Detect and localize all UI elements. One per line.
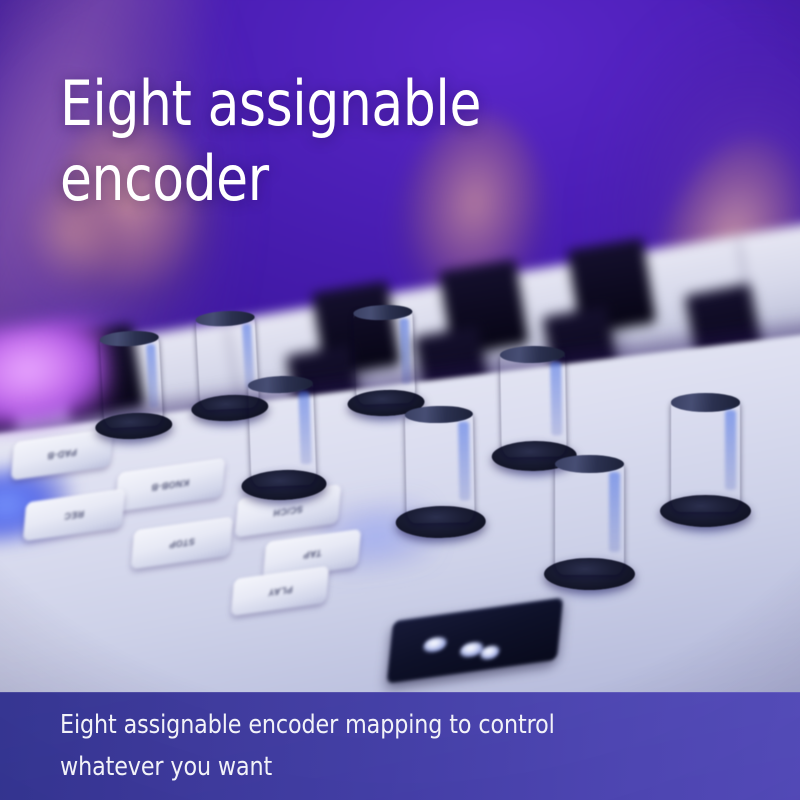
caption-line-1: Eight assignable encoder mapping to cont… bbox=[60, 704, 725, 746]
caption-band: Eight assignable encoder mapping to cont… bbox=[0, 692, 800, 800]
encoder-knob-1[interactable] bbox=[91, 338, 173, 441]
knob-highlight bbox=[609, 472, 620, 552]
knob-highlight bbox=[458, 422, 470, 500]
encoder-knob-6[interactable] bbox=[490, 355, 577, 472]
knob-highlight bbox=[399, 318, 411, 384]
knob-highlight bbox=[242, 324, 255, 389]
knob-cap bbox=[405, 411, 475, 524]
button-label: TAP bbox=[302, 548, 321, 561]
knob-top bbox=[671, 393, 740, 411]
button-label: PAD-B bbox=[47, 447, 77, 461]
encoder-knob-8[interactable] bbox=[660, 404, 751, 527]
knob-cap bbox=[500, 351, 566, 458]
encoder-knob-3[interactable] bbox=[238, 384, 327, 500]
knob-cap bbox=[100, 335, 163, 429]
knob-cap bbox=[248, 380, 316, 487]
knob-highlight bbox=[298, 391, 311, 464]
knob-highlight bbox=[725, 410, 736, 489]
display-dot bbox=[423, 635, 447, 653]
caption-line-2: whatever you want bbox=[60, 746, 725, 788]
encoder-knob-4[interactable] bbox=[344, 312, 424, 417]
knob-cap bbox=[354, 309, 416, 405]
promo-slide: PAD-B KNOB-B REC STOP SC/CH TAP PLAY bbox=[0, 0, 800, 800]
caption: Eight assignable encoder mapping to cont… bbox=[60, 704, 725, 788]
knob-cap bbox=[671, 399, 740, 512]
knob-top bbox=[555, 455, 624, 473]
button-label: REC bbox=[64, 508, 85, 521]
knob-cap bbox=[555, 461, 624, 576]
knob-highlight bbox=[551, 362, 563, 436]
encoder-knob-5[interactable] bbox=[394, 415, 486, 538]
button-label: PLAY bbox=[267, 584, 292, 598]
button-label: STOP bbox=[169, 536, 196, 550]
button-label: KNOB-B bbox=[151, 477, 190, 493]
page-title: Eight assignable encoder bbox=[60, 66, 674, 217]
encoder-knob-7[interactable] bbox=[544, 466, 635, 591]
knob-highlight bbox=[146, 344, 159, 408]
